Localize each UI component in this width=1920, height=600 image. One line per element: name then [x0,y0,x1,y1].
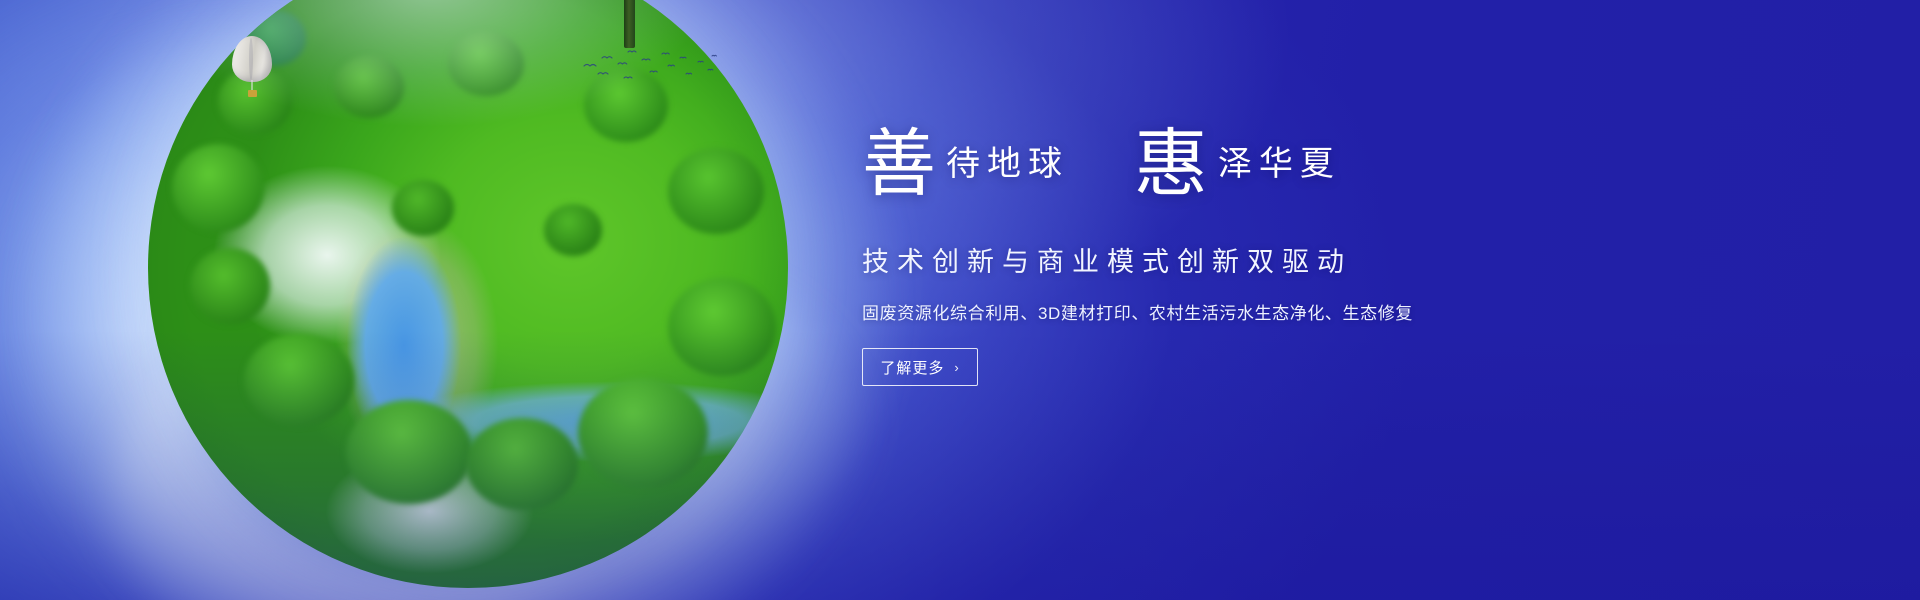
headline-1-small: 待地球 [946,146,1069,183]
learn-more-button[interactable]: 了解更多 › [862,348,978,386]
page-subtitle: 技术创新与商业模式创新双驱动 [862,240,1562,279]
headline-1-big: 善 [862,124,936,206]
learn-more-label: 了解更多 [880,357,944,378]
page-description: 固废资源化综合利用、3D建材打印、农村生活污水生态净化、生态修复 [862,299,1562,324]
page-title: 善待地球 惠泽华夏 [862,128,1562,220]
hero-banner: 善待地球 惠泽华夏 技术创新与商业模式创新双驱动 固废资源化综合利用、3D建材打… [0,0,1920,600]
headline-phrase-2: 惠泽华夏 [1134,128,1341,202]
headline-2-small: 泽华夏 [1218,146,1341,183]
headline-2-big: 惠 [1134,124,1208,206]
headline-phrase-1: 善待地球 [862,128,1069,202]
chevron-right-icon: › [954,361,959,374]
hero-content: 善待地球 惠泽华夏 技术创新与商业模式创新双驱动 固废资源化综合利用、3D建材打… [862,128,1562,386]
